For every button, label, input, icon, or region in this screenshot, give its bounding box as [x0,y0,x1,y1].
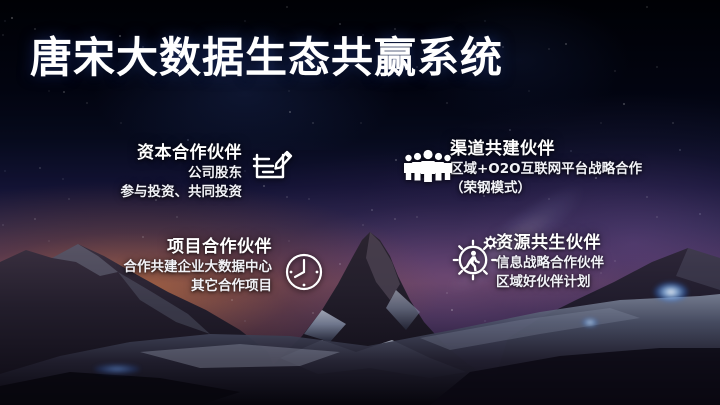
gear-person-glyph [452,233,500,281]
slide-canvas: 唐宋大数据生态共赢系统 资本合作伙伴 公司股东 参与投资、共同投资 渠道共建伙伴… [0,0,720,405]
partner-line-resource-1: 信息战略合作伙伴 [496,254,716,273]
partner-line-channel-2: （荣钢模式） [450,179,710,198]
partner-block-project: 项目合作伙伴 合作共建企业大数据中心 其它合作项目 [0,236,272,296]
running-person [463,251,480,271]
partner-block-resource: 资源共生伙伴 信息战略合作伙伴 区域好伙伴计划 [496,232,716,292]
contract-signature-glyph [252,143,294,185]
partner-heading-channel: 渠道共建伙伴 [450,138,710,160]
partner-line-project-1: 合作共建企业大数据中心 [0,258,272,277]
partner-line-channel-1: 区域+O2O互联网平台战略合作 [450,160,710,179]
partner-line-capital-1: 公司股东 [0,164,242,183]
partner-block-channel: 渠道共建伙伴 区域+O2O互联网平台战略合作 （荣钢模式） [450,138,710,198]
people-group-icon [404,148,452,182]
partner-heading-project: 项目合作伙伴 [0,236,272,258]
clock-glyph [284,252,324,292]
partner-block-capital: 资本合作伙伴 公司股东 参与投资、共同投资 [0,142,242,202]
partner-line-project-2: 其它合作项目 [0,277,272,296]
clock-icon [284,252,324,292]
partner-line-capital-2: 参与投资、共同投资 [0,183,242,202]
partner-line-resource-2: 区域好伙伴计划 [496,273,716,292]
gear-person-icon [452,233,500,281]
partner-heading-resource: 资源共生伙伴 [496,232,716,254]
contract-signature-icon [252,143,294,185]
partner-heading-capital: 资本合作伙伴 [0,142,242,164]
page-title: 唐宋大数据生态共赢系统 [30,32,503,84]
people-group-glyph [404,148,452,182]
